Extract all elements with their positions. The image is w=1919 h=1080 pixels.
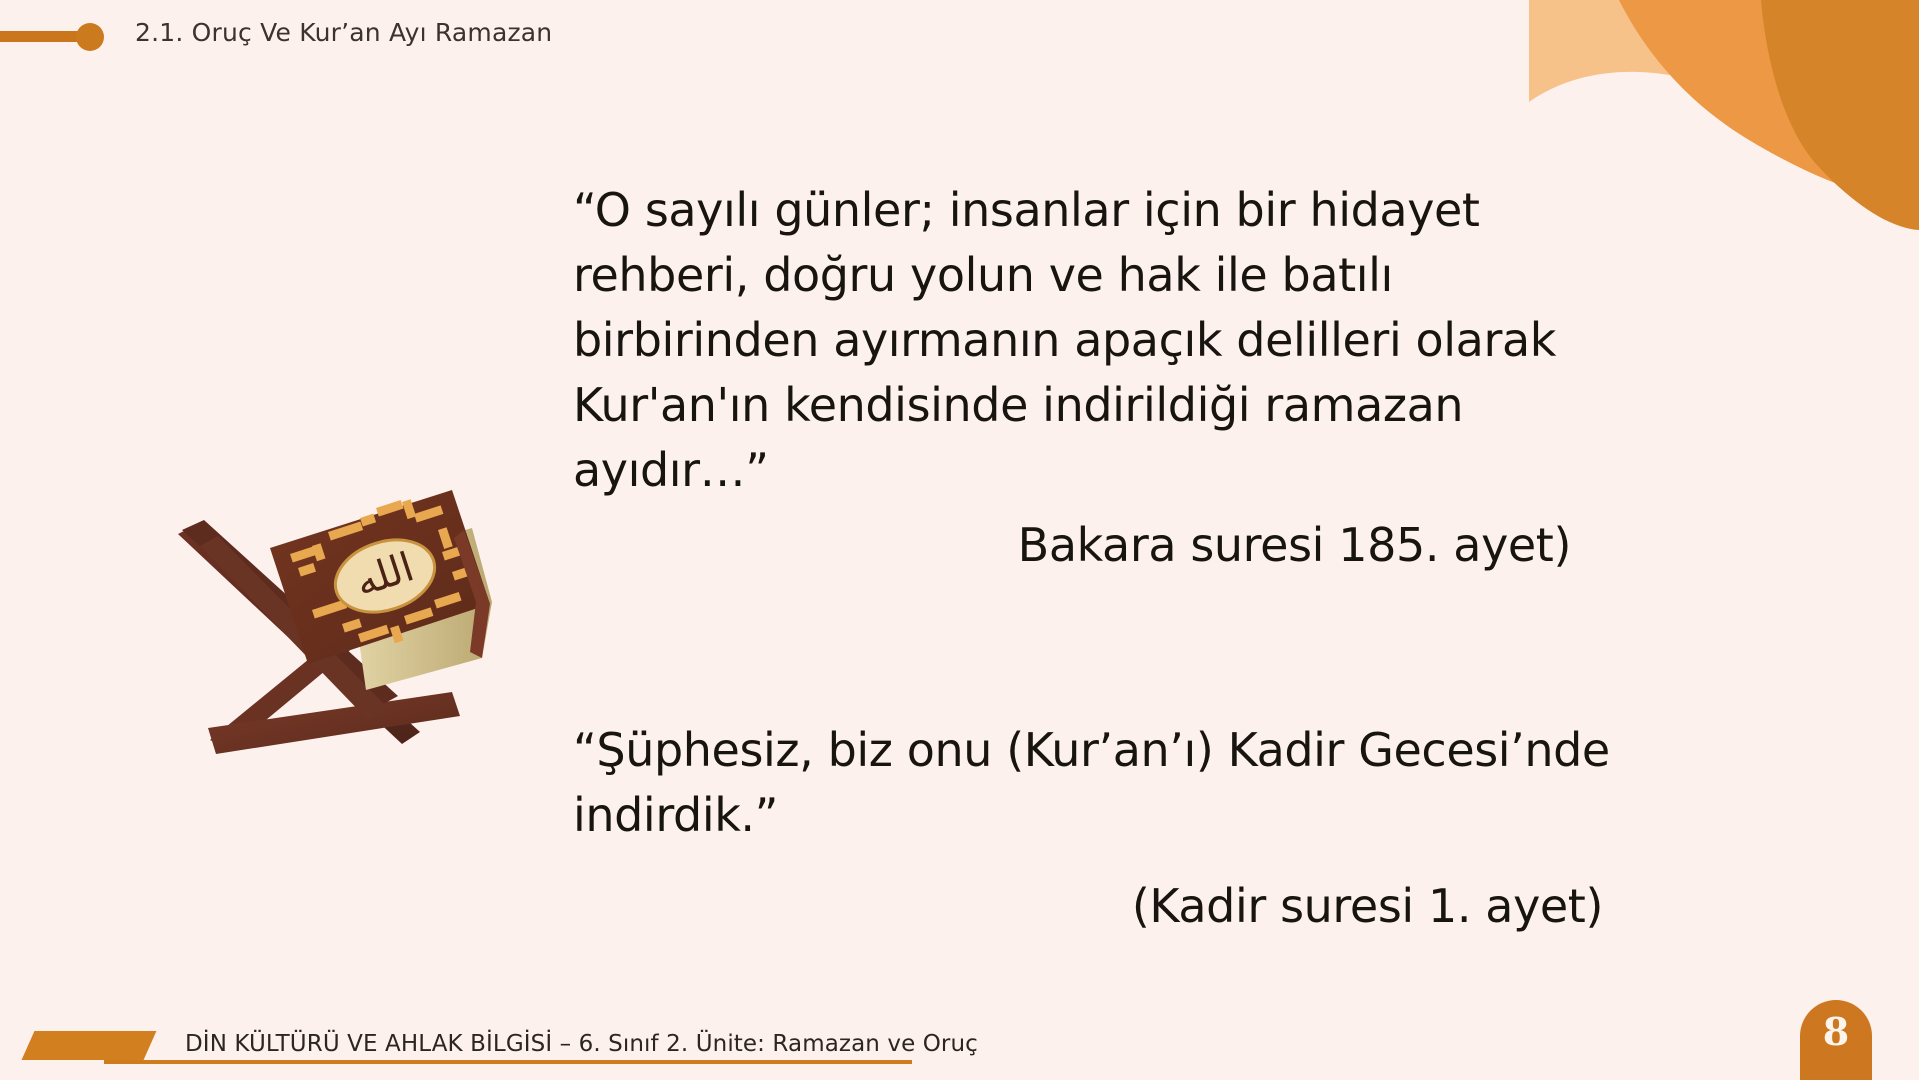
page-title: 2.1. Oruç Ve Kur’an Ayı Ramazan (135, 18, 552, 48)
rahle-base-bar (208, 692, 460, 754)
quote-attribution-kadir: (Kadir suresi 1. ayet) (573, 874, 1653, 938)
header-dot-icon (76, 23, 104, 51)
quote-block-kadir: “Şüphesiz, biz onu (Kur’an’ı) Kadir Gece… (573, 718, 1653, 938)
quote-block-bakara: “O sayılı günler; insanlar için bir hida… (573, 178, 1633, 577)
footer-underline (104, 1060, 912, 1064)
deco-layer-light (1529, 0, 1919, 150)
deco-layer-dark (1761, 0, 1919, 230)
quran-on-rahle-illustration: الله (152, 482, 497, 787)
quote-attribution-bakara: Bakara suresi 185. ayet) (573, 513, 1633, 577)
slide-canvas: 2.1. Oruç Ve Kur’an Ayı Ramazan (0, 0, 1919, 1080)
page-number-badge: 8 (1800, 1000, 1872, 1080)
page-number: 8 (1823, 1013, 1849, 1067)
quote-text-bakara: “O sayılı günler; insanlar için bir hida… (573, 178, 1633, 503)
footer-accent-shape (22, 1031, 157, 1060)
deco-layer-mid (1619, 0, 1919, 205)
quote-text-kadir: “Şüphesiz, biz onu (Kur’an’ı) Kadir Gece… (573, 718, 1653, 848)
footer-course-label: DİN KÜLTÜRÜ VE AHLAK BİLGİSİ – 6. Sınıf … (185, 1030, 978, 1058)
